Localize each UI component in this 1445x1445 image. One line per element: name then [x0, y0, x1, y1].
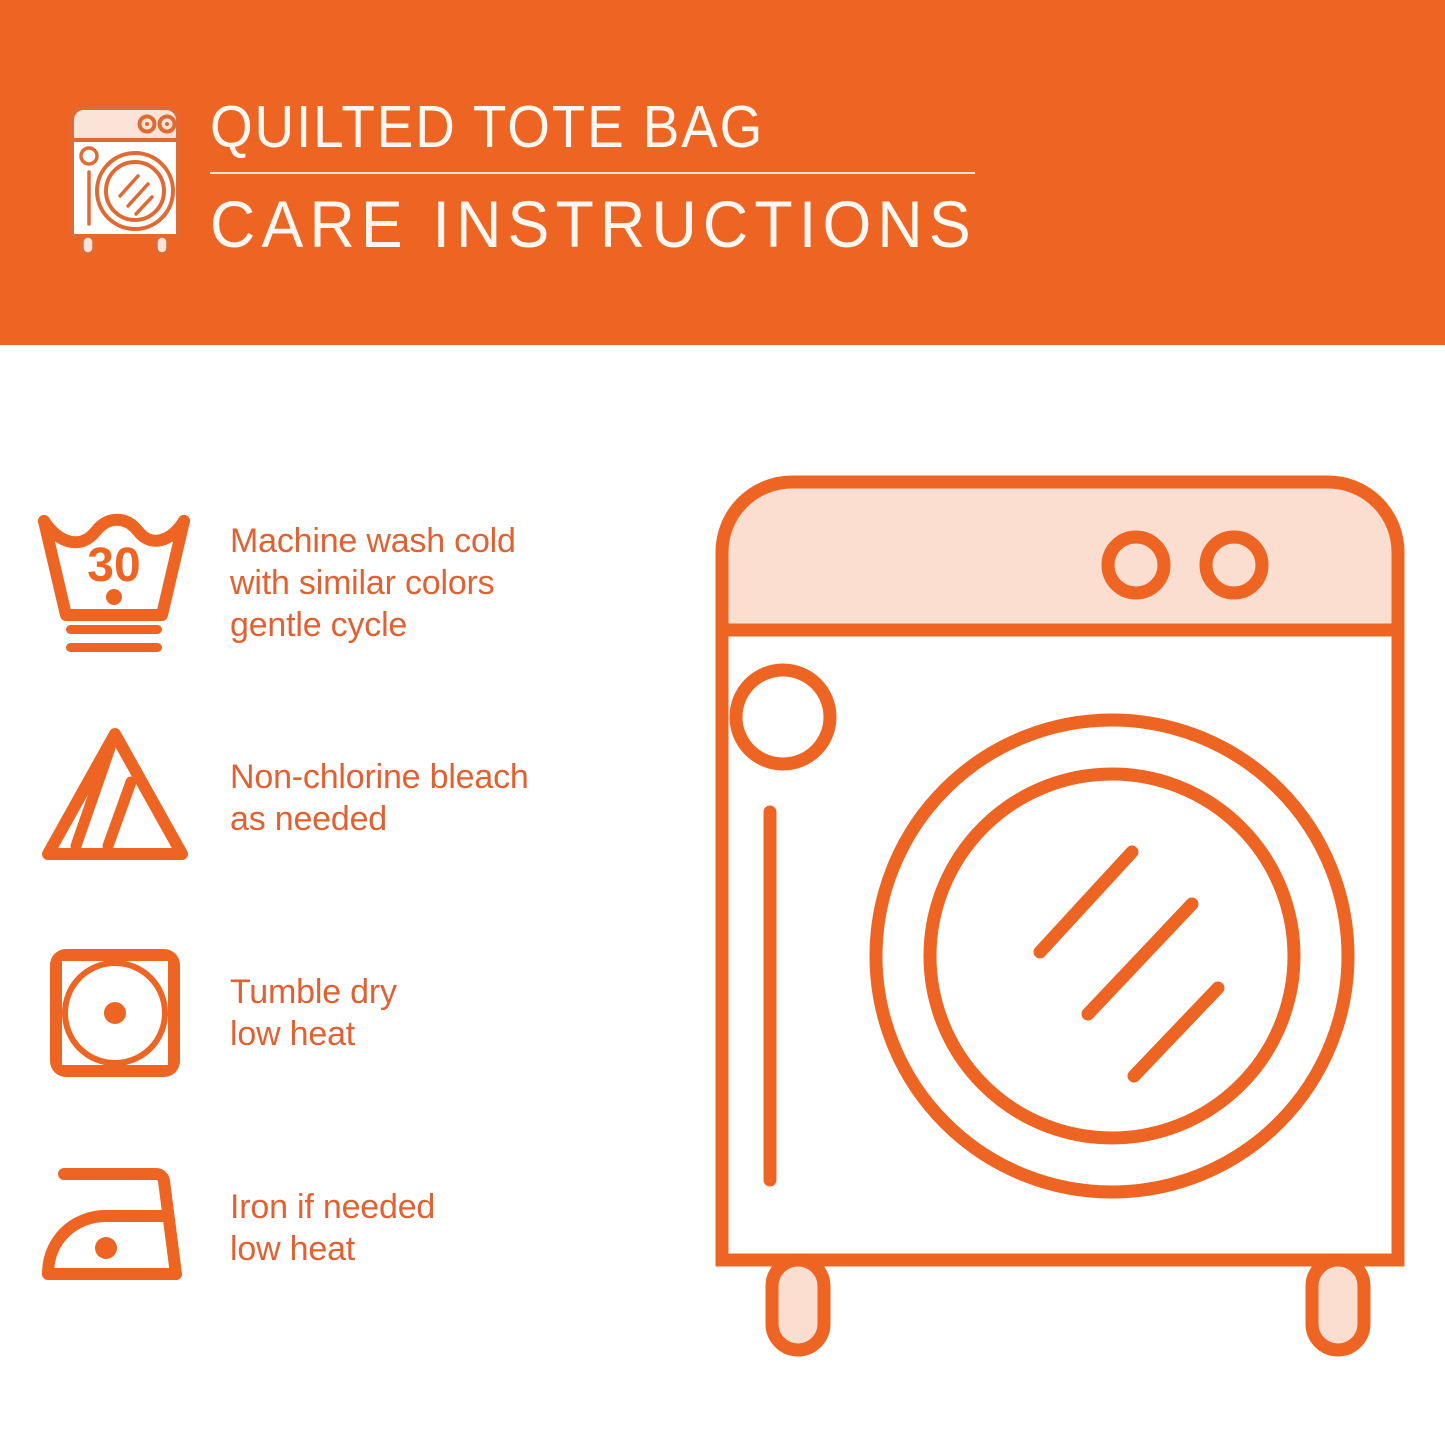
care-row-machine-wash: 30 Machine wash cold with similar colors… [0, 493, 700, 673]
care-label-iron: Iron if needed low heat [230, 1186, 435, 1270]
header-banner: QUILTED TOTE BAG CARE INSTRUCTIONS [0, 0, 1445, 345]
care-row-tumble-dry: Tumble dry low heat [0, 923, 700, 1103]
wash-tub-30-gentle-icon: 30 [0, 498, 230, 668]
iron-low-heat-icon [0, 1143, 230, 1313]
non-chlorine-bleach-triangle-icon [0, 713, 230, 883]
care-label-machine-wash: Machine wash cold with similar colors ge… [230, 520, 516, 646]
page-title: QUILTED TOTE BAG [210, 96, 945, 158]
care-row-iron: Iron if needed low heat [0, 1138, 700, 1318]
care-label-bleach: Non-chlorine bleach as needed [230, 756, 529, 840]
wash-temperature-value: 30 [87, 539, 140, 592]
page-subtitle: CARE INSTRUCTIONS [210, 189, 961, 259]
care-instructions-page: QUILTED TOTE BAG CARE INSTRUCTIONS 30 [0, 0, 1445, 1445]
title-divider [210, 172, 975, 174]
care-label-tumble-dry: Tumble dry low heat [230, 971, 397, 1055]
large-washing-machine-illustration [700, 460, 1420, 1380]
washing-machine-icon [62, 98, 188, 258]
care-row-bleach: Non-chlorine bleach as needed [0, 708, 700, 888]
care-instruction-list: 30 Machine wash cold with similar colors… [0, 345, 700, 1445]
header-text-block: QUILTED TOTE BAG CARE INSTRUCTIONS [210, 96, 1000, 259]
tumble-dry-low-icon [0, 928, 230, 1098]
